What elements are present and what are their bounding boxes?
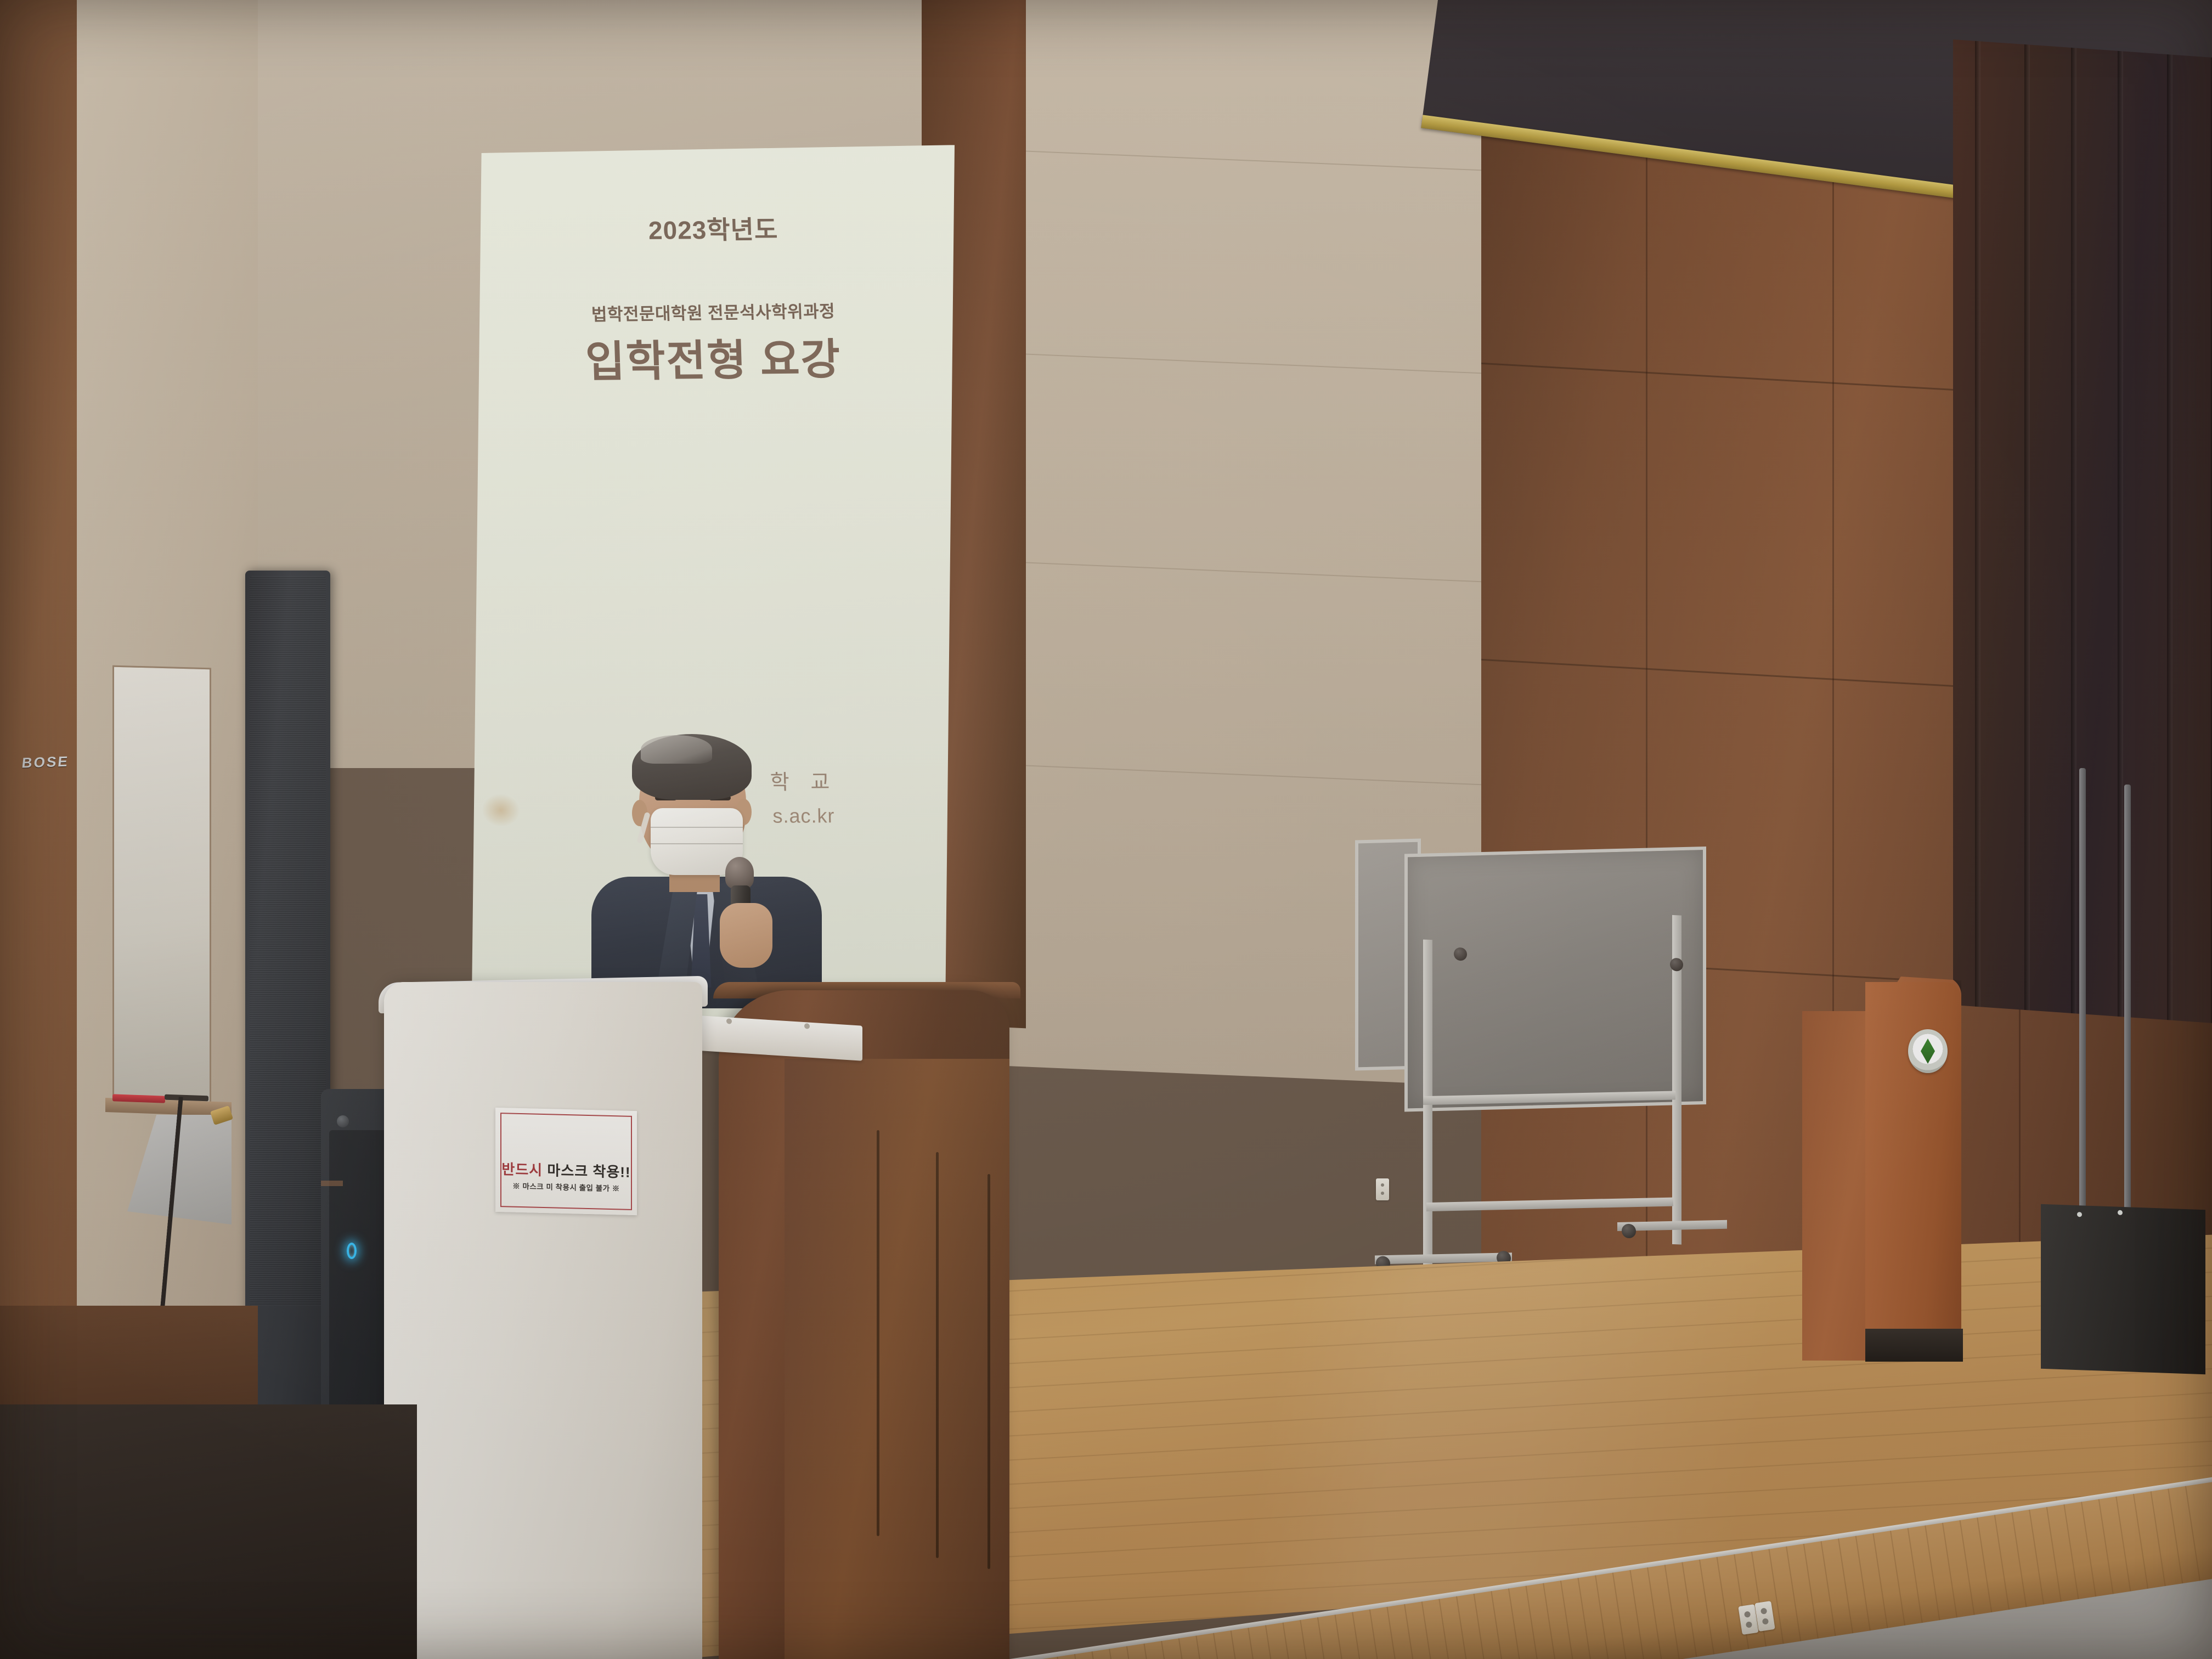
fascia-slat [1074,1654,1092,1659]
sign-headline: 반드시 마스크 착용!! [495,1158,637,1182]
white-podium [384,982,702,1659]
fascia-slat [1560,1581,1578,1659]
speaker-screw [337,1115,349,1127]
fascia-slat [1231,1630,1249,1659]
fascia-slat [1404,1604,1422,1659]
stage-outlet-hole-2-bottom [1762,1618,1769,1625]
curtain-pleat [2024,44,2030,1011]
presenter-hair-gray-streak [641,735,712,764]
curtain-pole-2 [2124,785,2131,1278]
curtain-pole-1 [2079,768,2086,1262]
amp-led-1 [2077,1212,2082,1217]
university-emblem-icon [1908,1029,1948,1073]
fascia-slat [1265,1625,1283,1659]
fascia-slat [1543,1583,1561,1659]
fascia-slat [1595,1575,1613,1659]
mobile-whiteboard [1355,838,1706,1285]
fascia-slat [1526,1585,1544,1659]
fascia-slat [1699,1560,1717,1659]
fascia-slat [1369,1610,1387,1659]
fascia-slat [1126,1646,1144,1659]
lectern-groove-1 [877,1130,879,1536]
fascia-slat [1629,1570,1647,1659]
fascia-slat [1248,1628,1266,1659]
whiteboard-crossbar-bottom [1426,1198,1673,1211]
curtain-pleat [1975,41,1980,1007]
mask-fold-2 [651,843,743,844]
fascia-slat [1317,1617,1335,1659]
whiteboard-knob-right[interactable] [1670,958,1683,972]
fascia-slat [1386,1607,1404,1659]
stage-lectern-base [1865,1329,1963,1362]
sign-headline-emphasis: 반드시 [501,1161,543,1178]
slide-title: 입학전형 요강 [471,324,955,390]
fascia-slat [1421,1601,1440,1659]
fascia-slat [1456,1596,1474,1659]
power-led-indicator[interactable] [347,1243,357,1259]
sign-headline-rest: 마스크 착용!! [543,1162,630,1181]
outlet-socket-bottom [1381,1192,1384,1195]
lectern-groove-3 [988,1174,990,1569]
speaker-slot [321,1181,343,1186]
fascia-slat [1612,1573,1630,1659]
fascia-slat [1681,1562,1700,1659]
microphone-head [725,857,754,889]
curtain-pleat [2071,48,2076,1014]
whiteboard-caster-3 [1622,1223,1636,1238]
fascia-slat [1057,1657,1075,1659]
wall-whiteboard [112,665,211,1107]
outlet-socket-top [1381,1183,1384,1187]
fascia-slat [1508,1588,1526,1659]
speaker-grille [250,576,326,1306]
wall-outlet[interactable] [1376,1178,1389,1200]
wood-lectern-face [785,1059,1009,1659]
curtain-pleat [2118,51,2123,1017]
mask-fold-1 [651,827,743,828]
emblem-leaf-shape [1921,1039,1935,1064]
rail-screw-2 [804,1023,810,1029]
fascia-slat [1109,1649,1127,1659]
fascia-slat [1300,1620,1318,1659]
fascia-slat [1335,1615,1353,1659]
lectern-groove-2 [936,1152,939,1558]
whiteboard-knob-left[interactable] [1454,947,1467,961]
fascia-slat [1352,1612,1370,1659]
fascia-slat [1491,1591,1509,1659]
fascia-slat [1664,1565,1683,1659]
fascia-slat [1438,1599,1457,1659]
stage-outlet-hole-bottom [1746,1621,1753,1628]
rail-screw-1 [726,1018,732,1024]
slide-year: 2023학년도 [471,208,955,248]
fascia-slat [1195,1635,1214,1659]
stage-outlet-hole-top [1744,1611,1751,1618]
stage-amplifier-box [2041,1204,2205,1374]
foreground-floor [0,1404,417,1659]
fascia-slat [1092,1651,1110,1659]
fascia-slat [1474,1594,1492,1659]
bose-logo: BOSE [21,753,70,772]
fascia-slat [1717,1557,1735,1659]
fascia-slat [1161,1641,1179,1659]
whiteboard-surface [1404,847,1706,1111]
stage-outlet-hole-2-top [1760,1607,1768,1615]
fascia-slat [1143,1644,1161,1659]
amp-led-2 [2118,1210,2123,1215]
presenter [571,730,856,993]
fascia-slat [1283,1622,1301,1659]
fascia-slat [1213,1633,1231,1659]
auditorium-scene: 2023학년도 법학전문대학원 전문석사학위과정 입학전형 요강 학 교 s.a… [0,0,2212,1659]
fascia-slat [1647,1567,1665,1659]
presenter-hand [720,903,772,968]
fascia-slat [1178,1638,1197,1659]
fascia-slat [1577,1578,1595,1659]
curtain-pleat [2167,54,2172,1020]
mask-notice-sign: 반드시 마스크 착용!! ※ 마스크 미 착용시 출입 불가 ※ [495,1108,637,1215]
